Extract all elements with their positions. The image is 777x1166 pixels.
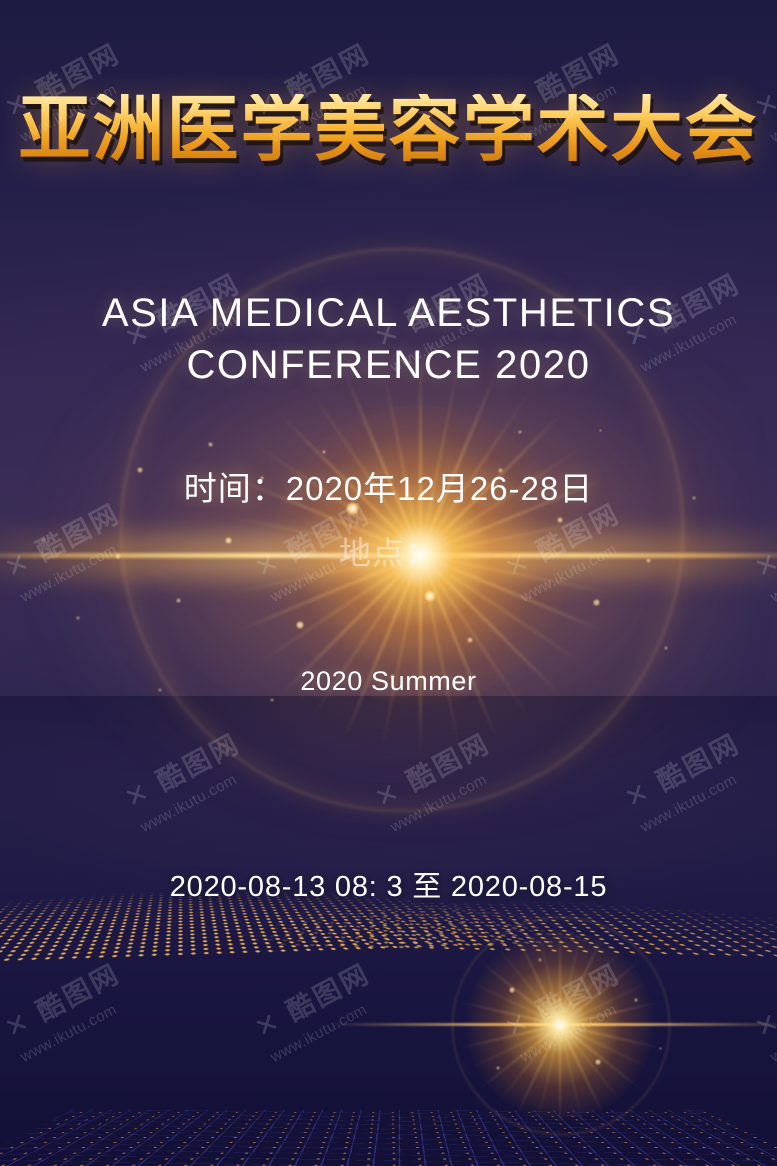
bokeh-particle	[467, 637, 473, 643]
bokeh-particle	[599, 429, 602, 432]
poster-canvas: 亚洲医学美容学术大会 ASIA MEDICAL AESTHETICS CONFE…	[0, 0, 777, 1166]
mesh-top-fade	[0, 696, 777, 866]
bokeh-particle	[176, 598, 181, 603]
bokeh-particle	[76, 616, 80, 620]
bokeh-particle	[424, 590, 436, 602]
event-season-line: 2020 Summer	[0, 666, 777, 697]
title-english-line-1: ASIA MEDICAL AESTHETICS	[0, 287, 777, 339]
bokeh-particle	[296, 621, 304, 629]
bokeh-particle	[557, 517, 563, 523]
page-title-chinese: 亚洲医学美容学术大会	[0, 94, 777, 166]
bokeh-particle	[208, 442, 213, 447]
title-english-line-2: CONFERENCE 2020	[0, 339, 777, 391]
particle-wave-background	[0, 696, 777, 1166]
page-title-english: ASIA MEDICAL AESTHETICS CONFERENCE 2020	[0, 287, 777, 391]
bokeh-particle	[593, 599, 600, 606]
event-time-line: 时间：2020年12月26-28日	[0, 462, 777, 510]
perspective-grid-dots	[0, 1110, 777, 1166]
event-date-range: 2020-08-13 08: 3 至 2020-08-15	[0, 863, 777, 905]
bokeh-particle	[518, 430, 522, 434]
event-place-line: 地点：	[0, 528, 777, 574]
bokeh-particle	[322, 450, 326, 454]
bokeh-particle	[664, 646, 668, 650]
